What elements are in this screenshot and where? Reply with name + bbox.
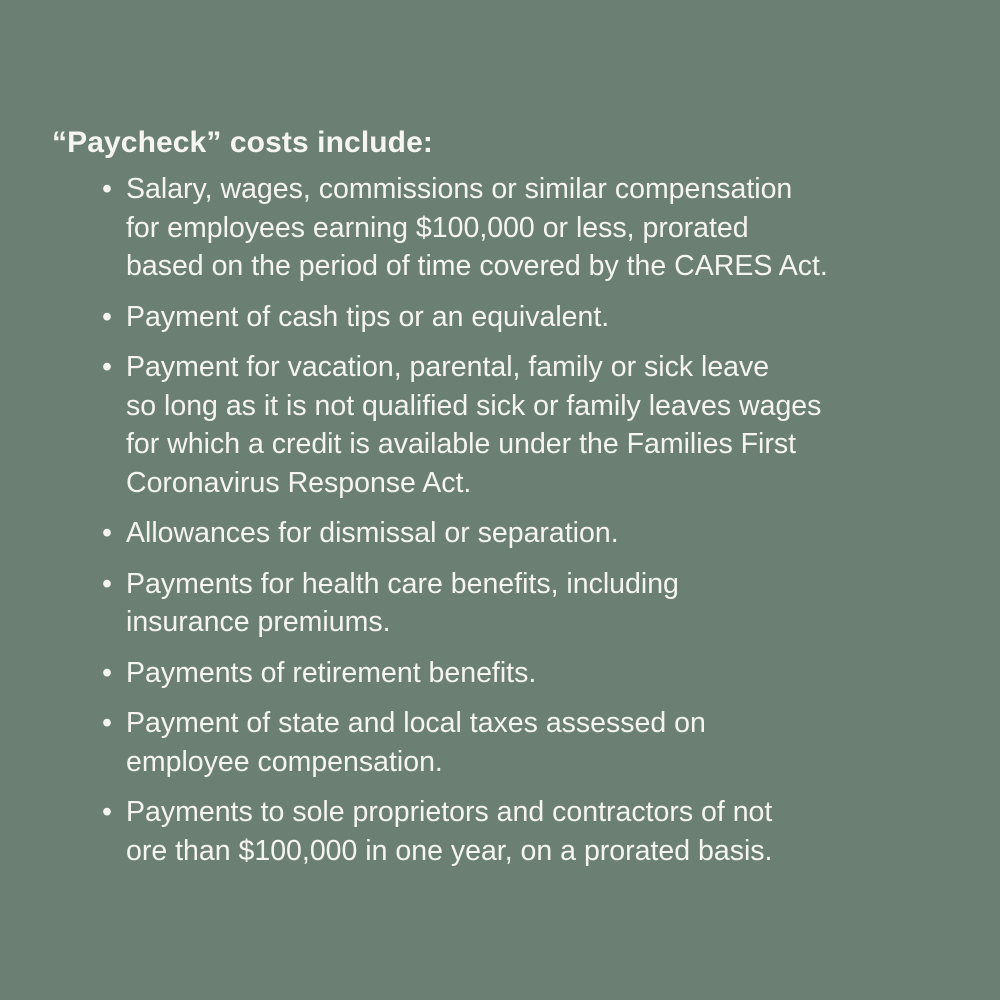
list-item: • Payments for health care benefits, inc… bbox=[52, 565, 964, 642]
list-item: • Payment of cash tips or an equivalent. bbox=[52, 298, 964, 337]
page-title: “Paycheck” costs include: bbox=[52, 124, 964, 162]
list-item-text: Payment for vacation, parental, family o… bbox=[126, 348, 964, 502]
list-item-text: Payments for health care benefits, inclu… bbox=[126, 565, 964, 642]
bullet-point-icon: • bbox=[102, 654, 122, 693]
list-item-text: Salary, wages, commissions or similar co… bbox=[126, 170, 964, 286]
list-item: • Salary, wages, commissions or similar … bbox=[52, 170, 964, 286]
list-item-text: Allowances for dismissal or separation. bbox=[126, 514, 964, 553]
list-item: • Payment for vacation, parental, family… bbox=[52, 348, 964, 502]
list-item: • Payments of retirement benefits. bbox=[52, 654, 964, 693]
bullet-point-icon: • bbox=[102, 514, 122, 553]
bullet-point-icon: • bbox=[102, 565, 122, 604]
list-item: • Allowances for dismissal or separation… bbox=[52, 514, 964, 553]
list-item-text: Payment of state and local taxes assesse… bbox=[126, 704, 964, 781]
list-item-text: Payments to sole proprietors and contrac… bbox=[126, 793, 964, 870]
bullet-point-icon: • bbox=[102, 704, 122, 743]
bullet-point-icon: • bbox=[102, 793, 122, 832]
slide-canvas: “Paycheck” costs include: • Salary, wage… bbox=[0, 0, 1000, 1000]
bullet-point-icon: • bbox=[102, 298, 122, 337]
list-item-text: Payments of retirement benefits. bbox=[126, 654, 964, 693]
list-item: • Payment of state and local taxes asses… bbox=[52, 704, 964, 781]
list-item-text: Payment of cash tips or an equivalent. bbox=[126, 298, 964, 337]
list-item: • Payments to sole proprietors and contr… bbox=[52, 793, 964, 870]
slide-content: “Paycheck” costs include: • Salary, wage… bbox=[52, 124, 964, 870]
bullet-list: • Salary, wages, commissions or similar … bbox=[52, 170, 964, 870]
bullet-point-icon: • bbox=[102, 348, 122, 387]
bullet-point-icon: • bbox=[102, 170, 122, 209]
